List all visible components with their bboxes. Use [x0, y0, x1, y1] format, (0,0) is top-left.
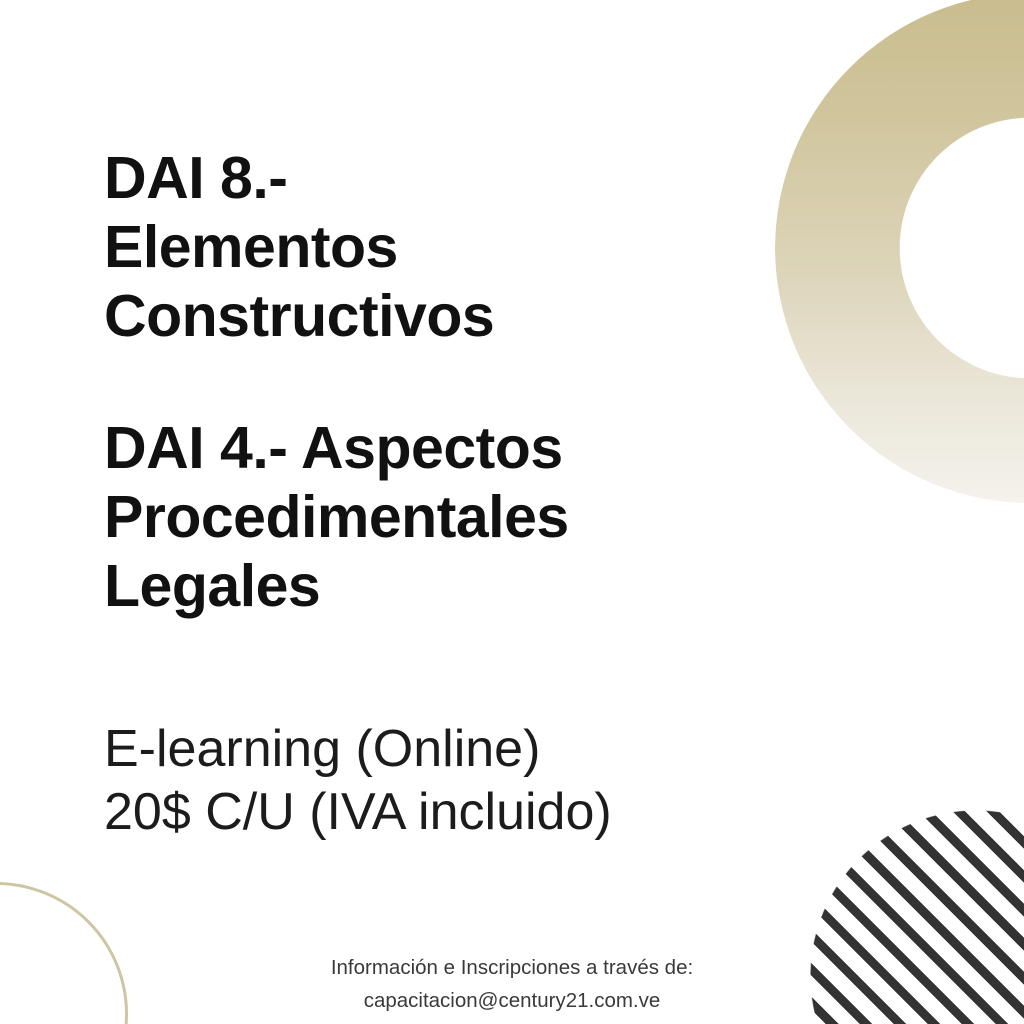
course-title-primary: DAI 8.- Elementos Constructivos	[104, 144, 494, 351]
course-modality-and-price: E-learning (Online) 20$ C/U (IVA incluid…	[104, 718, 612, 845]
contact-footer: Información e Inscripciones a través de:…	[0, 918, 1024, 1024]
contact-email-address[interactable]: capacitacion@century21.com.ve	[0, 984, 1024, 1017]
course-title-secondary: DAI 4.- Aspectos Procedimentales Legales	[104, 414, 569, 621]
contact-prompt-label: Información e Inscripciones a través de:	[331, 956, 693, 979]
poster-content: DAI 8.- Elementos Constructivos DAI 4.- …	[0, 0, 1024, 1024]
poster-canvas: DAI 8.- Elementos Constructivos DAI 4.- …	[0, 0, 1024, 1024]
